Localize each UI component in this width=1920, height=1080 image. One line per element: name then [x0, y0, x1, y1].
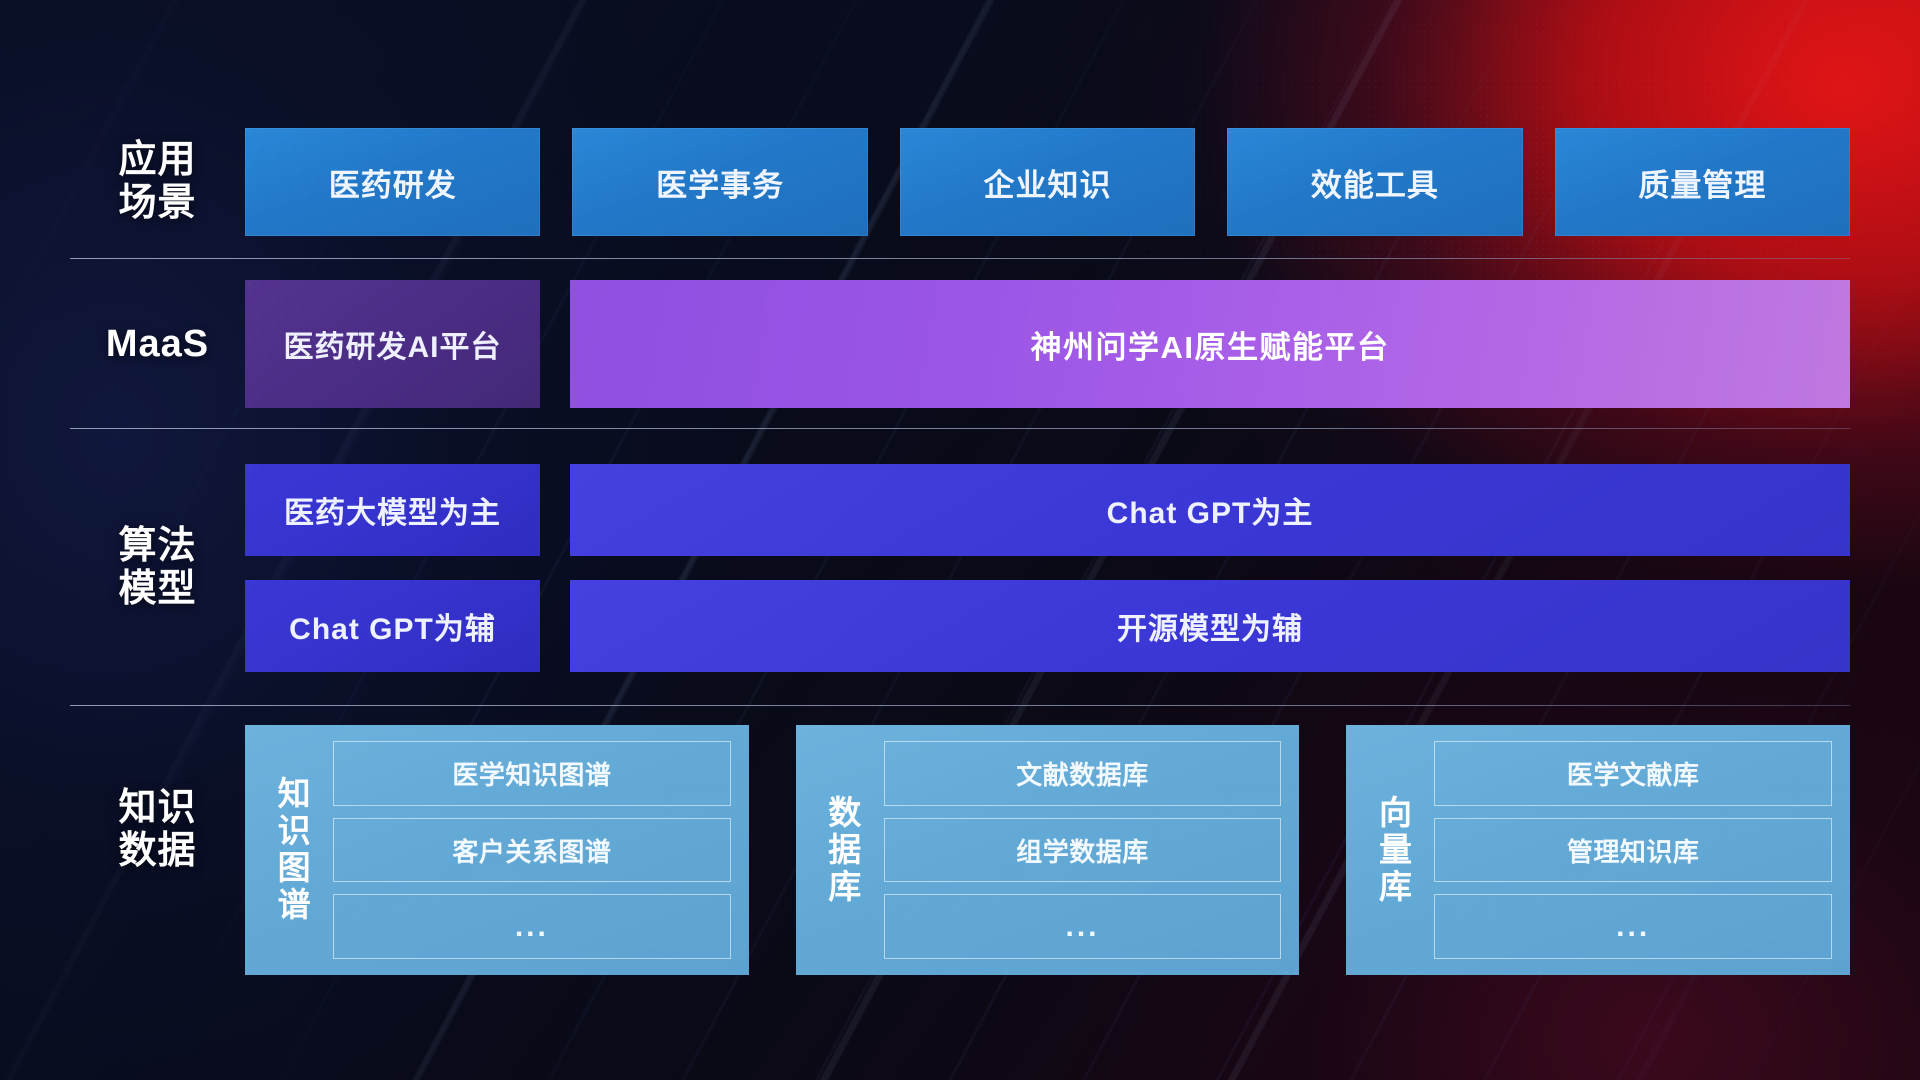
- row-divider: [70, 428, 1850, 429]
- application-card[interactable]: 企业知识: [900, 128, 1195, 236]
- knowledge-group-graph-items: 医学知识图谱 客户关系图谱 ...: [333, 741, 731, 959]
- row-knowledge-data: 知识 数据 知识图谱 医学知识图谱 客户关系图谱 ... 数据库 文献数据库 组…: [70, 725, 1850, 975]
- algorithm-primary-pharma[interactable]: 医药大模型为主: [245, 464, 540, 556]
- maas-platform-list: 医药研发AI平台 神州问学AI原生赋能平台: [245, 280, 1850, 408]
- knowledge-item[interactable]: 医学知识图谱: [333, 741, 731, 806]
- application-card-label: 医学事务: [656, 160, 784, 205]
- maas-platform-pharma[interactable]: 医药研发AI平台: [245, 280, 540, 408]
- algorithm-secondary-opensource[interactable]: 开源模型为辅: [570, 580, 1850, 672]
- algorithm-model-row: Chat GPT为辅 开源模型为辅: [245, 580, 1850, 672]
- row-divider: [70, 705, 1850, 706]
- knowledge-item-more[interactable]: ...: [1434, 894, 1832, 959]
- diagram-canvas: 应用 场景 医药研发 医学事务 企业知识 效能工具 质量管理: [0, 0, 1920, 1080]
- application-card-list: 医药研发 医学事务 企业知识 效能工具 质量管理: [245, 128, 1850, 236]
- knowledge-group-graph[interactable]: 知识图谱 医学知识图谱 客户关系图谱 ...: [245, 725, 749, 975]
- algorithm-primary-gpt[interactable]: Chat GPT为主: [570, 464, 1850, 556]
- application-card[interactable]: 医药研发: [245, 128, 540, 236]
- maas-platform-shenzhou[interactable]: 神州问学AI原生赋能平台: [570, 280, 1850, 408]
- knowledge-group-vector-label: 向量库: [1364, 741, 1420, 959]
- knowledge-group-vector-items: 医学文献库 管理知识库 ...: [1434, 741, 1832, 959]
- knowledge-item[interactable]: 管理知识库: [1434, 818, 1832, 883]
- application-card-label: 医药研发: [329, 160, 457, 205]
- row-application-scenarios: 应用 场景 医药研发 医学事务 企业知识 效能工具 质量管理: [70, 128, 1850, 236]
- knowledge-item-more[interactable]: ...: [333, 894, 731, 959]
- maas-platform-pharma-label: 医药研发AI平台: [284, 322, 502, 366]
- knowledge-item-more[interactable]: ...: [884, 894, 1282, 959]
- knowledge-group-database-items: 文献数据库 组学数据库 ...: [884, 741, 1282, 959]
- knowledge-group-vector[interactable]: 向量库 医学文献库 管理知识库 ...: [1346, 725, 1850, 975]
- row-label-algorithm-models: 算法 模型: [70, 525, 245, 610]
- algorithm-secondary-opensource-label: 开源模型为辅: [1117, 604, 1303, 648]
- knowledge-item[interactable]: 组学数据库: [884, 818, 1282, 883]
- knowledge-group-list: 知识图谱 医学知识图谱 客户关系图谱 ... 数据库 文献数据库 组学数据库 .…: [245, 725, 1850, 975]
- algorithm-primary-gpt-label: Chat GPT为主: [1107, 488, 1314, 532]
- application-card[interactable]: 医学事务: [572, 128, 867, 236]
- application-card[interactable]: 效能工具: [1227, 128, 1522, 236]
- knowledge-group-database[interactable]: 数据库 文献数据库 组学数据库 ...: [796, 725, 1300, 975]
- knowledge-item[interactable]: 医学文献库: [1434, 741, 1832, 806]
- layer-stack: 应用 场景 医药研发 医学事务 企业知识 效能工具 质量管理: [0, 0, 1920, 1080]
- maas-platform-shenzhou-label: 神州问学AI原生赋能平台: [1031, 322, 1390, 367]
- algorithm-secondary-gpt-label: Chat GPT为辅: [289, 604, 496, 648]
- knowledge-group-graph-label: 知识图谱: [263, 741, 319, 959]
- application-card[interactable]: 质量管理: [1555, 128, 1850, 236]
- knowledge-group-database-label: 数据库: [814, 741, 870, 959]
- row-maas: MaaS 医药研发AI平台 神州问学AI原生赋能平台: [70, 280, 1850, 408]
- knowledge-item[interactable]: 文献数据库: [884, 741, 1282, 806]
- row-label-maas: MaaS: [70, 323, 245, 366]
- application-card-label: 企业知识: [984, 160, 1112, 205]
- application-card-label: 质量管理: [1638, 160, 1766, 205]
- algorithm-secondary-gpt[interactable]: Chat GPT为辅: [245, 580, 540, 672]
- row-divider: [70, 258, 1850, 259]
- algorithm-primary-pharma-label: 医药大模型为主: [284, 488, 501, 532]
- algorithm-model-row: 医药大模型为主 Chat GPT为主: [245, 464, 1850, 556]
- knowledge-item[interactable]: 客户关系图谱: [333, 818, 731, 883]
- row-label-knowledge-data: 知识 数据: [70, 725, 245, 872]
- row-algorithm-models: 算法 模型 医药大模型为主 Chat GPT为主 Chat GPT为辅 开源模型…: [70, 450, 1850, 685]
- application-card-label: 效能工具: [1311, 160, 1439, 205]
- algorithm-model-list: 医药大模型为主 Chat GPT为主 Chat GPT为辅 开源模型为辅: [245, 464, 1850, 672]
- row-label-application-scenarios: 应用 场景: [70, 139, 245, 224]
